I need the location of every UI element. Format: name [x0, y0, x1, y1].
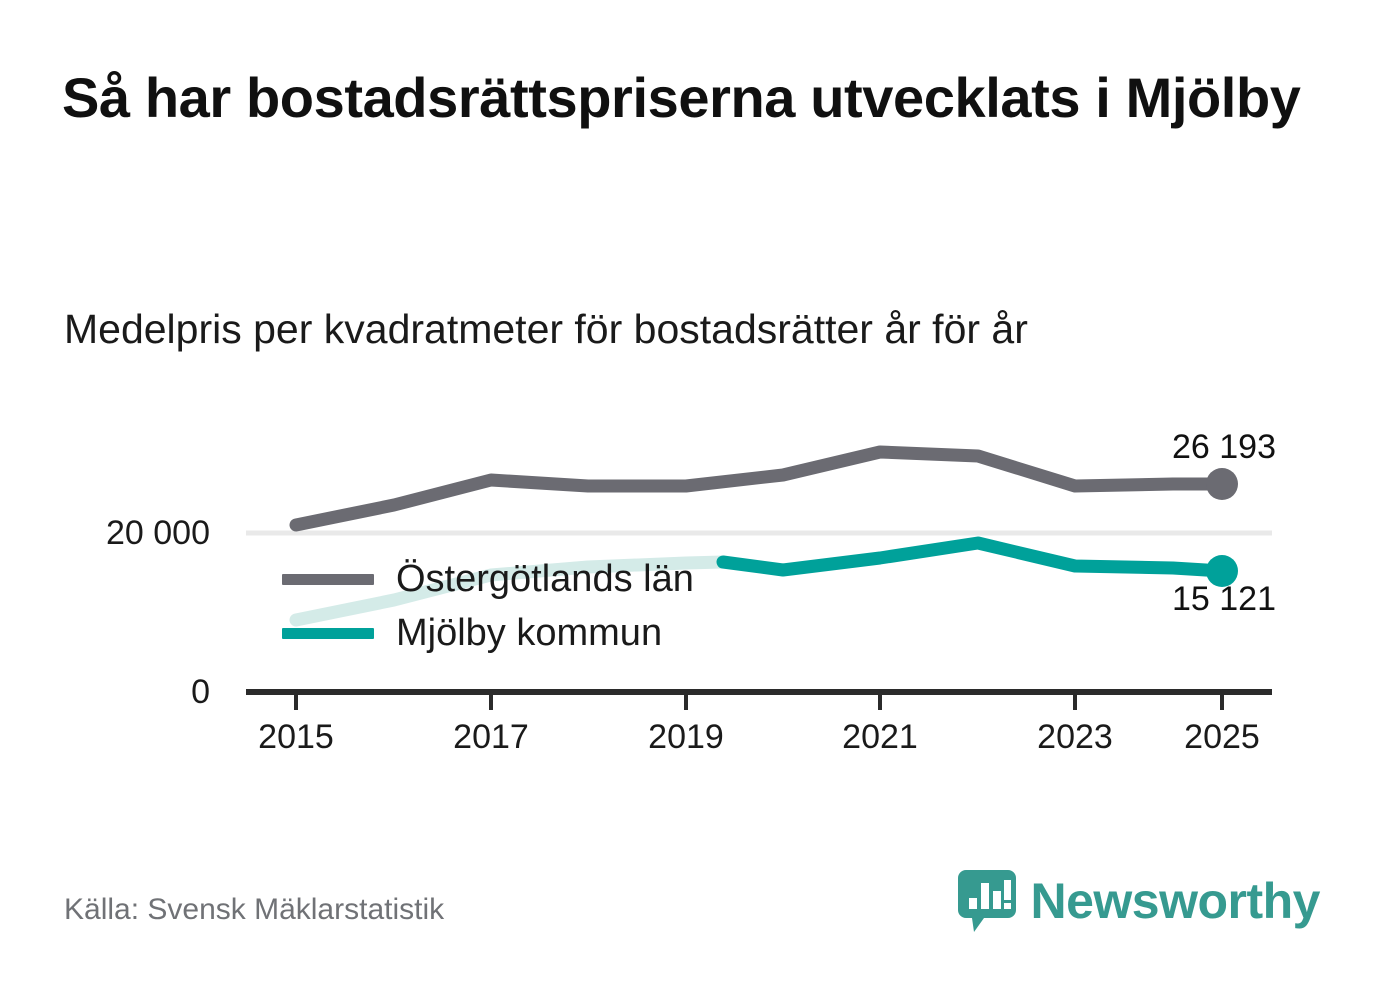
- legend-item-ostergotlands-lan[interactable]: Östergötlands län: [282, 552, 694, 606]
- endpoint-marker-ostergotland: [1206, 468, 1238, 500]
- legend-item-mjolby-kommun[interactable]: Mjölby kommun: [282, 606, 694, 660]
- newsworthy-bubble-chart-icon: [958, 870, 1016, 932]
- y-axis-label-20000: 20 000: [0, 514, 210, 553]
- chart-page: Så har bostadsrättspriserna utvecklats i…: [0, 0, 1382, 999]
- x-axis-label-2021: 2021: [810, 718, 950, 757]
- x-axis-label-2025: 2025: [1152, 718, 1292, 757]
- brand-name: Newsworthy: [1030, 876, 1320, 926]
- value-label-ostergotlands-lan: 26 193: [1172, 428, 1276, 467]
- legend-swatch-mjolby-kommun: [282, 628, 374, 639]
- legend-label-ostergotlands-lan: Östergötlands län: [396, 560, 694, 598]
- legend-label-mjolby-kommun: Mjölby kommun: [396, 614, 662, 652]
- y-axis-label-0: 0: [0, 673, 210, 712]
- series-line-ostergotland: [296, 452, 1222, 525]
- x-axis-label-2017: 2017: [421, 718, 561, 757]
- x-axis-label-2019: 2019: [616, 718, 756, 757]
- value-label-mjolby-kommun: 15 121: [1172, 580, 1276, 619]
- legend-swatch-ostergotlands-lan: [282, 574, 374, 585]
- series-line-mjolby: [723, 543, 1222, 571]
- line-chart-svg: [0, 0, 1382, 999]
- x-axis-label-2015: 2015: [226, 718, 366, 757]
- newsworthy-logo[interactable]: Newsworthy: [958, 870, 1320, 932]
- source-note: Källa: Svensk Mäklarstatistik: [64, 893, 444, 927]
- chart-canvas: 20 000 0 2015 2017 2019 2021 2023 2025 Ö…: [0, 0, 1382, 999]
- chart-legend: Östergötlands län Mjölby kommun: [282, 552, 694, 660]
- x-axis-label-2023: 2023: [1005, 718, 1145, 757]
